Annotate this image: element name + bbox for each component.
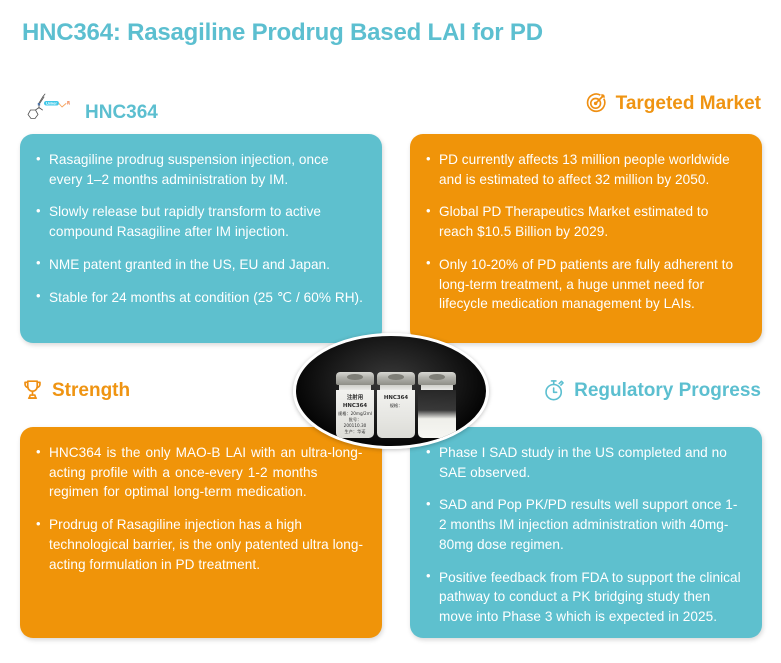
- vial-label: 注射用 HNC364 规格：20mg/2ml 批号：200110.30 生产：华…: [338, 395, 372, 435]
- vial-photo: 注射用 HNC364 规格：20mg/2ml 批号：200110.30 生产：华…: [293, 333, 489, 449]
- vial-body: 注射用 HNC364 规格：20mg/2ml 批号：200110.30 生产：华…: [336, 390, 374, 438]
- vial-body: HNC364 规格：: [377, 390, 415, 438]
- list-item: Positive feedback from FDA to support th…: [426, 568, 744, 627]
- trophy-icon: [22, 379, 43, 401]
- vial-label-line3: 规格：20mg/2ml: [338, 411, 372, 416]
- bullet-list: PD currently affects 13 million people w…: [426, 150, 744, 314]
- stopwatch-icon: [543, 379, 565, 402]
- vial-body: [418, 390, 456, 438]
- svg-text:Linker: Linker: [46, 102, 57, 106]
- list-item: PD currently affects 13 million people w…: [426, 150, 744, 189]
- vial-cap: [377, 372, 415, 385]
- vial-label-line5: 生产：华诺: [345, 429, 366, 434]
- list-item: Phase I SAD study in the US completed an…: [426, 443, 744, 482]
- bullet-list: Phase I SAD study in the US completed an…: [426, 443, 744, 627]
- vial-cap: [336, 372, 374, 385]
- vial-2: HNC364 规格：: [377, 372, 415, 438]
- vial-label-line3: 规格：: [390, 403, 403, 408]
- list-item: Slowly release but rapidly transform to …: [36, 202, 364, 241]
- vial-label-line2: HNC364: [343, 403, 367, 409]
- section-heading-regulatory-progress: Regulatory Progress: [543, 379, 761, 402]
- bullet-list: HNC364 is the only MAO-B LAI with an ult…: [36, 443, 364, 574]
- section-heading-label: Strength: [52, 381, 130, 400]
- card-strength: HNC364 is the only MAO-B LAI with an ult…: [20, 427, 382, 638]
- list-item: Global PD Therapeutics Market estimated …: [426, 202, 744, 241]
- vial-1: 注射用 HNC364 规格：20mg/2ml 批号：200110.30 生产：华…: [336, 372, 374, 438]
- section-heading-label: Targeted Market: [616, 94, 761, 113]
- list-item: Rasagiline prodrug suspension injection,…: [36, 150, 364, 189]
- card-regulatory-progress: Phase I SAD study in the US completed an…: [410, 427, 762, 638]
- list-item: HNC364 is the only MAO-B LAI with an ult…: [36, 443, 364, 502]
- bullet-list: Rasagiline prodrug suspension injection,…: [36, 150, 364, 307]
- section-heading-label: Regulatory Progress: [574, 381, 761, 400]
- svg-text:N: N: [38, 103, 41, 107]
- list-item: Stable for 24 months at condition (25 ℃ …: [36, 288, 364, 308]
- page-title: HNC364: Rasagiline Prodrug Based LAI for…: [22, 19, 543, 47]
- list-item: Prodrug of Rasagiline injection has a hi…: [36, 515, 364, 574]
- chemical-structure-icon: N Linker R: [22, 92, 76, 132]
- card-targeted-market: PD currently affects 13 million people w…: [410, 134, 762, 343]
- svg-text:R: R: [67, 101, 70, 106]
- vial-label-line1: 注射用: [347, 395, 363, 401]
- card-hnc364: Rasagiline prodrug suspension injection,…: [20, 134, 382, 343]
- vial-label-line2: HNC364: [384, 395, 408, 401]
- section-heading-strength: Strength: [22, 379, 130, 401]
- list-item: NME patent granted in the US, EU and Jap…: [36, 255, 364, 275]
- vial-label-line4: 批号：200110.30: [344, 417, 367, 428]
- vial-cap: [418, 372, 456, 385]
- list-item: Only 10-20% of PD patients are fully adh…: [426, 255, 744, 314]
- section-heading-label: HNC364: [85, 103, 158, 122]
- target-icon: [585, 92, 607, 114]
- vial-3: [418, 372, 456, 438]
- section-heading-targeted-market: Targeted Market: [585, 92, 761, 114]
- list-item: SAD and Pop PK/PD results well support o…: [426, 495, 744, 554]
- vial-label: HNC364 规格：: [379, 395, 413, 409]
- section-heading-hnc364: N Linker R HNC364: [22, 92, 158, 132]
